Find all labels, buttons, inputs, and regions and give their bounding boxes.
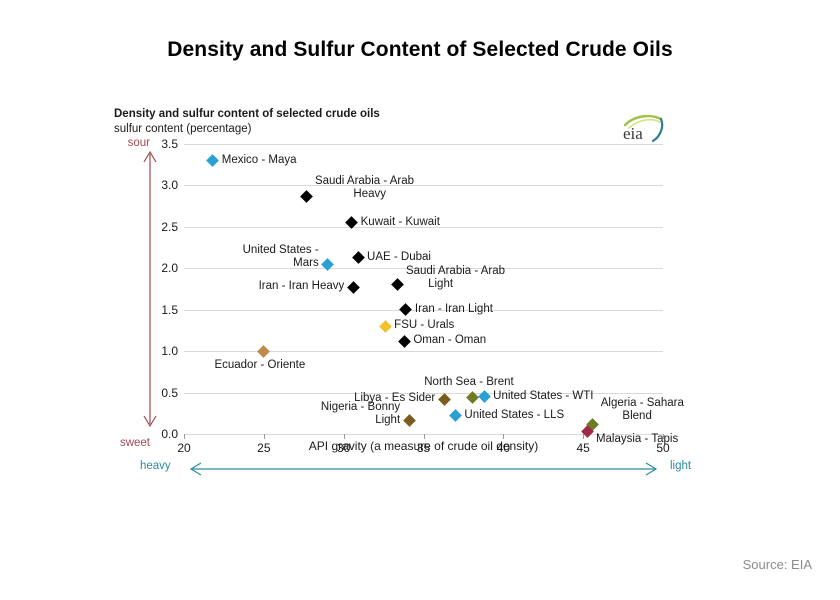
y-axis-tick-label: 2.5 [161,220,178,234]
x-axis-title: API gravity (a measure of crude oil dens… [184,439,663,453]
gridline [184,185,663,186]
data-point-marker[interactable] [438,393,451,406]
plot-area: 0.00.51.01.52.02.53.03.520253035404550Me… [184,144,663,434]
source-note: Source: EIA [743,557,812,572]
page-title: Density and Sulfur Content of Selected C… [0,38,840,62]
data-point-label: United States - WTI [493,390,593,403]
data-point-label: United States - LLS [464,409,564,422]
data-point-label: Nigeria - BonnyLight [321,401,400,427]
data-point-marker[interactable] [379,320,392,333]
y-axis-tick-label: 2.0 [161,261,178,275]
data-point-label: Saudi Arabia - ArabLight [406,265,505,291]
chart-subtitle: sulfur content (percentage) [114,123,251,135]
sour-label: sour [98,137,150,149]
data-point-marker[interactable] [206,154,219,167]
y-axis-tick-label: 3.5 [161,137,178,151]
sweet-label: sweet [98,437,150,449]
y-axis-tick-label: 0.5 [161,386,178,400]
data-point-label: United States -Mars [243,244,319,270]
data-point-marker[interactable] [400,303,413,316]
data-point-label: FSU - Urals [394,319,454,332]
data-point-marker[interactable] [449,409,462,422]
data-point-label: Saudi Arabia - ArabHeavy [315,175,414,201]
data-point-marker[interactable] [392,278,405,291]
gridline [184,351,663,352]
data-point-marker[interactable] [257,345,270,358]
heavy-label: heavy [140,460,171,472]
data-point-label: Algeria - SaharaBlend [601,397,684,423]
sour-sweet-axis-arrow [137,144,163,434]
y-axis-tick-label: 1.0 [161,344,178,358]
data-point-label: Kuwait - Kuwait [361,216,440,229]
eia-logo-icon: eia [617,112,665,146]
data-point-marker[interactable] [347,281,360,294]
heavy-light-axis-arrow [184,460,663,478]
chart-title: Density and sulfur content of selected c… [114,108,380,120]
data-point-label: North Sea - Brent [424,376,513,389]
data-point-marker[interactable] [301,190,314,203]
y-axis-tick-label: 0.0 [161,427,178,441]
data-point-label: Ecuador - Oriente [214,359,305,372]
data-point-label: UAE - Dubai [367,251,431,264]
data-point-marker[interactable] [352,251,365,264]
data-point-label: Mexico - Maya [222,154,297,167]
svg-text:eia: eia [623,124,643,143]
data-point-label: Oman - Oman [413,334,486,347]
gridline [184,144,663,145]
data-point-label: Iran - Iran Light [415,303,493,316]
data-point-label: Iran - Iran Heavy [259,280,345,293]
chart-panel: Density and sulfur content of selected c… [110,108,690,488]
light-label: light [670,460,691,472]
data-point-marker[interactable] [398,335,411,348]
data-point-marker[interactable] [403,414,416,427]
y-axis-tick-label: 3.0 [161,178,178,192]
y-axis-tick-label: 1.5 [161,303,178,317]
